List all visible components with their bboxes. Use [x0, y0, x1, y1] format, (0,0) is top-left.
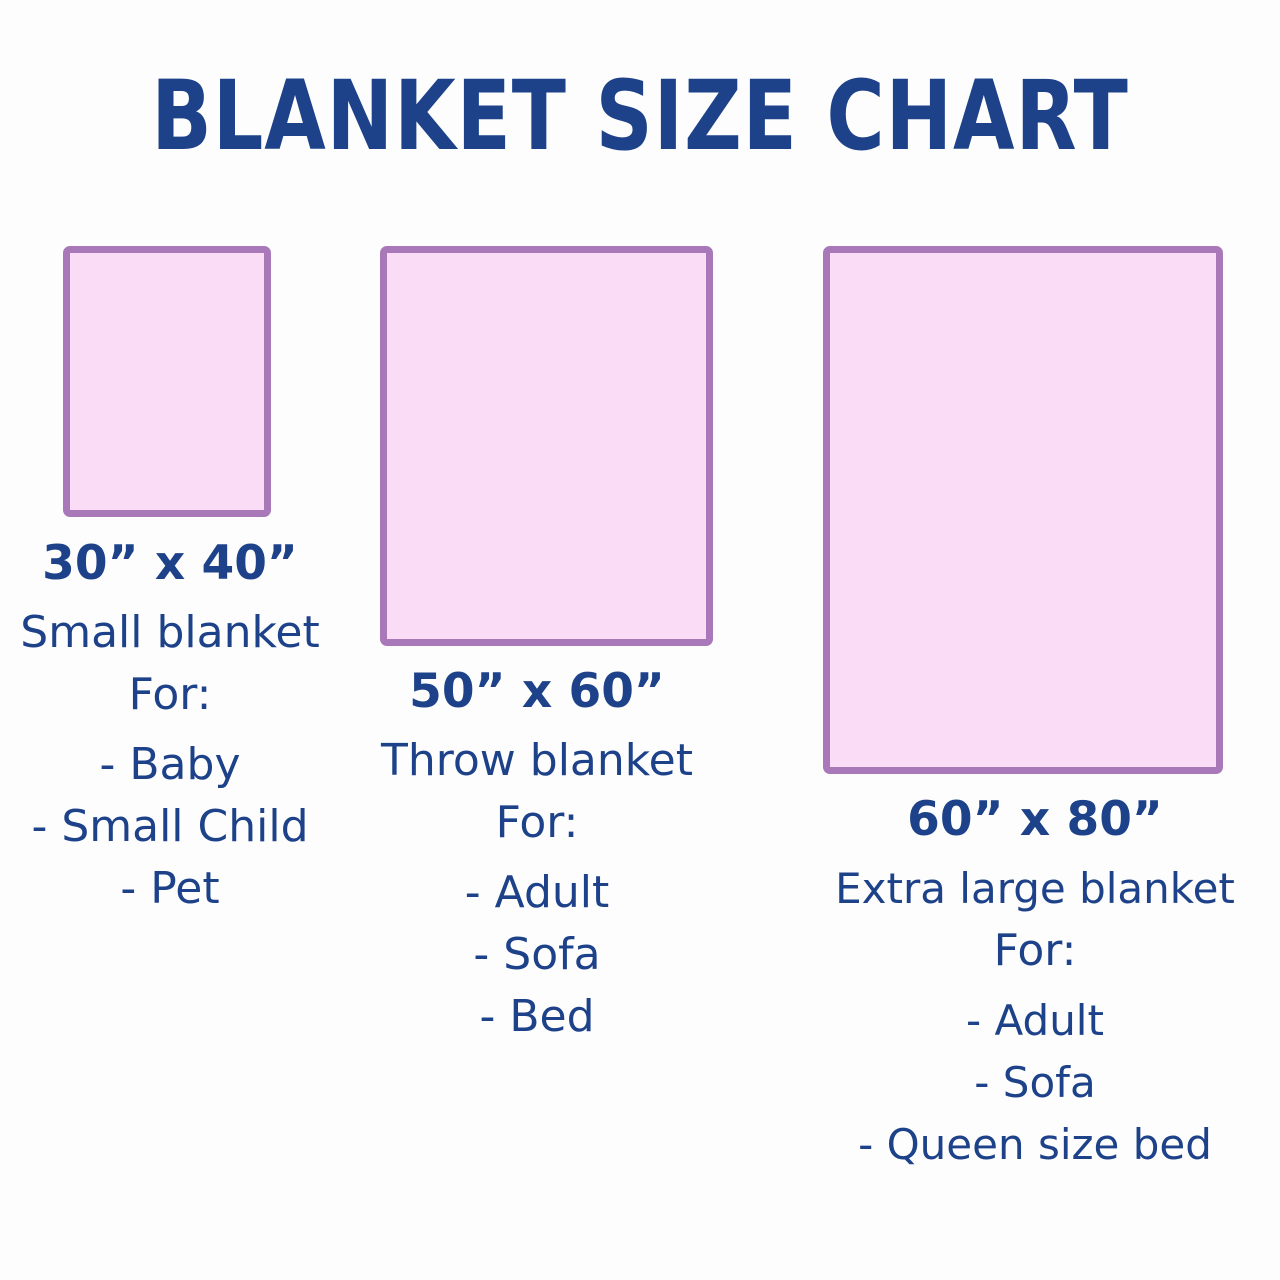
- blanket-swatch-small: [63, 246, 271, 517]
- spacer: [0, 594, 340, 602]
- blanket-swatch-extra-large: [823, 246, 1223, 774]
- spacer: [790, 982, 1280, 990]
- use-list-throw: - Adult - Sofa - Bed: [362, 862, 712, 1048]
- size-label-extra-large: 60” x 80”: [790, 790, 1280, 850]
- spacer: [0, 726, 340, 734]
- list-item: - Sofa: [362, 924, 712, 986]
- list-item: - Small Child: [0, 796, 340, 858]
- list-item: - Baby: [0, 734, 340, 796]
- size-column-throw: 50” x 60” Throw blanket For: - Adult - S…: [362, 662, 712, 1048]
- list-item: - Adult: [790, 990, 1280, 1052]
- list-item: - Bed: [362, 986, 712, 1048]
- list-item: - Sofa: [790, 1052, 1280, 1114]
- size-label-small: 30” x 40”: [0, 534, 340, 594]
- spacer: [790, 850, 1280, 858]
- list-item: - Adult: [362, 862, 712, 924]
- spacer: [362, 722, 712, 730]
- blanket-size-chart: BLANKET SIZE CHART 30” x 40” Small blank…: [0, 0, 1280, 1280]
- blanket-swatch-throw: [380, 246, 713, 646]
- blanket-name-throw: Throw blanket: [362, 730, 712, 792]
- for-label-small: For:: [0, 664, 340, 726]
- spacer: [362, 854, 712, 862]
- for-label-extra-large: For:: [790, 920, 1280, 982]
- list-item: - Queen size bed: [790, 1114, 1280, 1176]
- list-item: - Pet: [0, 858, 340, 920]
- blanket-name-small: Small blanket: [0, 602, 340, 664]
- page-title: BLANKET SIZE CHART: [51, 66, 1229, 166]
- size-label-throw: 50” x 60”: [362, 662, 712, 722]
- use-list-extra-large: - Adult - Sofa - Queen size bed: [790, 990, 1280, 1176]
- size-column-extra-large: 60” x 80” Extra large blanket For: - Adu…: [790, 790, 1280, 1176]
- for-label-throw: For:: [362, 792, 712, 854]
- use-list-small: - Baby - Small Child - Pet: [0, 734, 340, 920]
- size-column-small: 30” x 40” Small blanket For: - Baby - Sm…: [0, 534, 340, 920]
- blanket-name-extra-large: Extra large blanket: [790, 858, 1280, 920]
